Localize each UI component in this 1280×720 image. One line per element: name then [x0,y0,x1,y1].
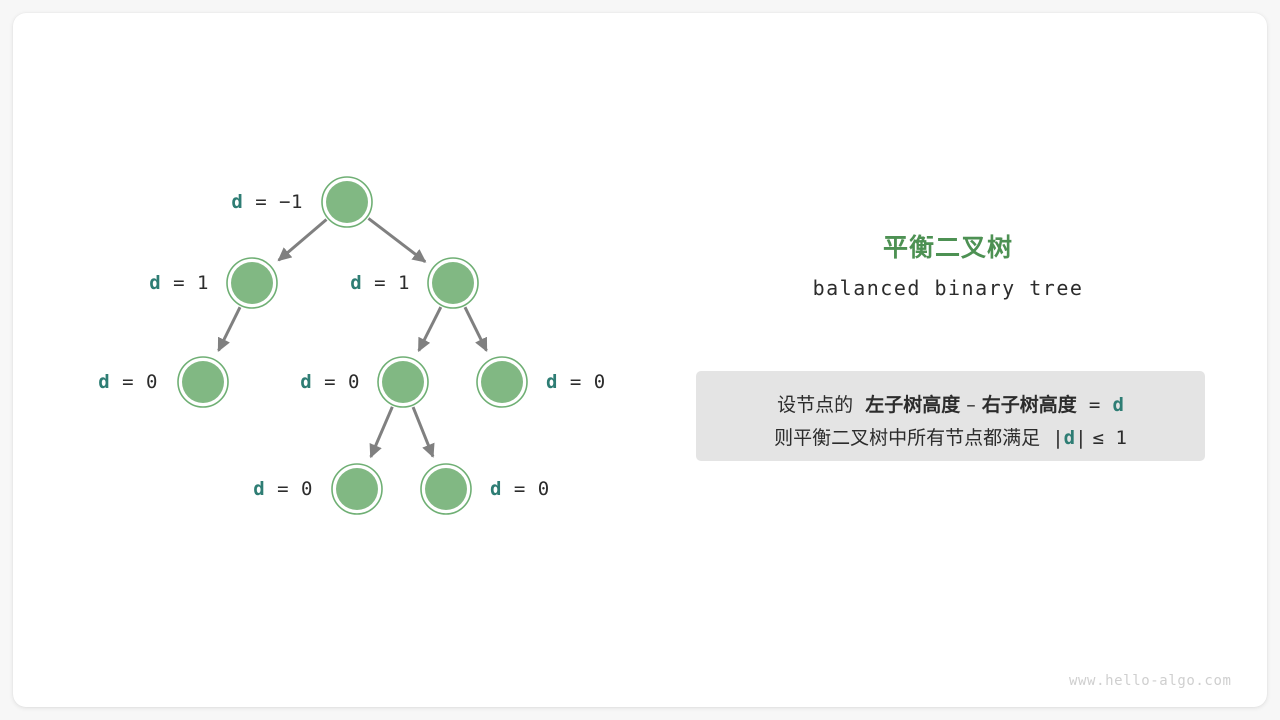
balance-value: = 0 [265,478,313,500]
tree-nodes [178,177,527,514]
tree-node [477,357,527,407]
tree-node [178,357,228,407]
balance-variable: d [300,371,312,393]
definition-variable-d: d [1112,394,1123,416]
tree-edges [219,218,487,456]
definition-prefix-2: 则平衡二叉树中所有节点都满足 [774,427,1040,449]
tree-node-circle [425,468,467,510]
definition-equals: = [1089,394,1100,416]
definition-left-height: 左子树高度 [865,394,960,416]
tree-node-circle [182,361,224,403]
balance-variable: d [546,371,558,393]
tree-edge [279,220,327,261]
page-title: 平衡二叉树 [697,228,1199,264]
diagram-canvas: d = −1d = 1d = 1d = 0d = 0d = 0d = 0d = … [0,0,1280,720]
definition-prefix-1: 设节点的 [777,394,853,416]
tree-node [322,177,372,227]
abs-bar-close: | [1075,427,1086,449]
tree-edge [219,307,240,350]
balance-value: = 0 [110,371,158,393]
node-balance-label: d = 0 [253,478,313,500]
tree-node [378,357,428,407]
node-balance-label: d = 0 [490,478,550,500]
site-watermark: www.hello-algo.com [1069,673,1232,689]
definition-line-2: 则平衡二叉树中所有节点都满足 |d| ≤ 1 [696,423,1205,450]
definition-line-1: 设节点的 左子树高度 – 右子树高度 = d [696,390,1205,417]
balance-value: = 1 [161,272,209,294]
tree-node-circle [432,262,474,304]
balance-variable: d [149,272,161,294]
node-balance-label: d = −1 [231,191,303,213]
tree-edge [419,307,441,351]
tree-node-circle [382,361,424,403]
tree-node-circle [481,361,523,403]
abs-bar-open: | [1052,427,1063,449]
tree-node-circle [336,468,378,510]
tree-node [421,464,471,514]
balance-variable: d [253,478,265,500]
balance-value: = 0 [312,371,360,393]
balance-value: = 0 [558,371,606,393]
tree-edge [368,218,425,261]
tree-edge [465,307,486,350]
tree-node-circle [231,262,273,304]
balance-value: = 0 [502,478,550,500]
balance-value: = −1 [243,191,303,213]
tree-edge [413,407,433,456]
node-balance-label: d = 1 [350,272,410,294]
tree-node [428,258,478,308]
balance-variable: d [490,478,502,500]
balance-variable: d [98,371,110,393]
definition-minus: – [966,394,976,416]
definition-right-height: 右子树高度 [982,394,1077,416]
tree-node [332,464,382,514]
balance-value: = 1 [362,272,410,294]
node-balance-label: d = 1 [149,272,209,294]
tree-edge [371,407,393,457]
node-balance-label: d = 0 [98,371,158,393]
node-balance-label: d = 0 [546,371,606,393]
definition-box: 设节点的 左子树高度 – 右子树高度 = d 则平衡二叉树中所有节点都满足 |d… [696,371,1205,461]
node-balance-label: d = 0 [300,371,360,393]
tree-node [227,258,277,308]
page-subtitle: balanced binary tree [697,276,1199,300]
tree-node-circle [326,181,368,223]
balance-variable: d [231,191,243,213]
definition-variable-d-2: d [1064,427,1075,449]
balance-variable: d [350,272,362,294]
definition-relation: ≤ 1 [1093,427,1127,449]
binary-tree-graphic [0,0,1280,720]
